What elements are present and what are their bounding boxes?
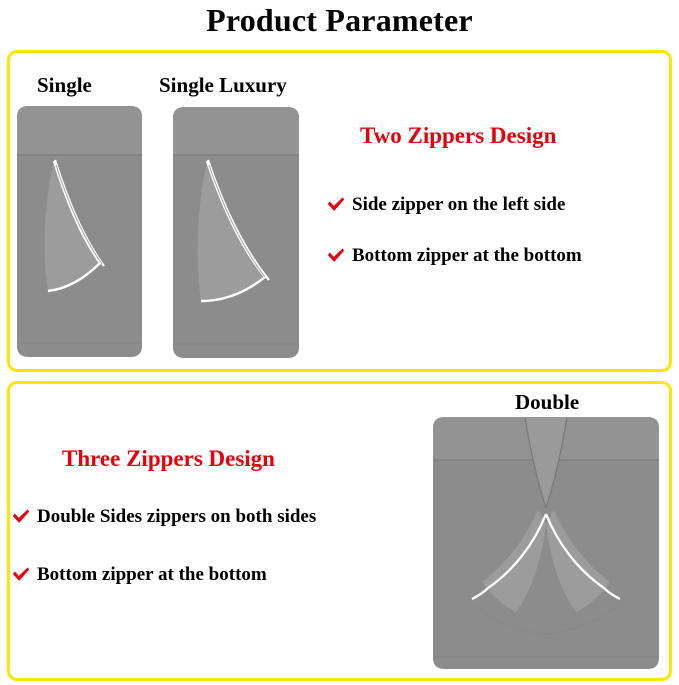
bed-label-single: Single	[37, 73, 92, 98]
bullet-double-sides-zippers: Double Sides zippers on both sides	[12, 506, 316, 528]
bullet-bottom-zipper-label: Bottom zipper at the bottom	[352, 245, 582, 267]
check-icon	[12, 508, 30, 526]
heading-two-zippers-design: Two Zippers Design	[360, 123, 556, 149]
product-parameter-page: Product Parameter	[0, 0, 679, 685]
bullet-bottom-zipper-2-label: Bottom zipper at the bottom	[37, 564, 267, 586]
bullet-side-zipper-label: Side zipper on the left side	[352, 194, 565, 216]
bullet-double-sides-label: Double Sides zippers on both sides	[37, 506, 316, 528]
check-icon	[327, 247, 345, 265]
page-title: Product Parameter	[0, 2, 679, 39]
bed-illustration-single-luxury	[171, 105, 301, 365]
bed-illustration-single	[14, 103, 144, 365]
bullet-bottom-zipper: Bottom zipper at the bottom	[327, 245, 582, 267]
check-icon	[12, 566, 30, 584]
bed-illustration-double	[430, 414, 662, 677]
bed-label-single-luxury: Single Luxury	[159, 73, 287, 98]
bed-label-double: Double	[515, 390, 579, 415]
heading-three-zippers-design: Three Zippers Design	[62, 446, 275, 472]
bullet-side-zipper: Side zipper on the left side	[327, 194, 565, 216]
check-icon	[327, 196, 345, 214]
bullet-bottom-zipper-2: Bottom zipper at the bottom	[12, 564, 267, 586]
